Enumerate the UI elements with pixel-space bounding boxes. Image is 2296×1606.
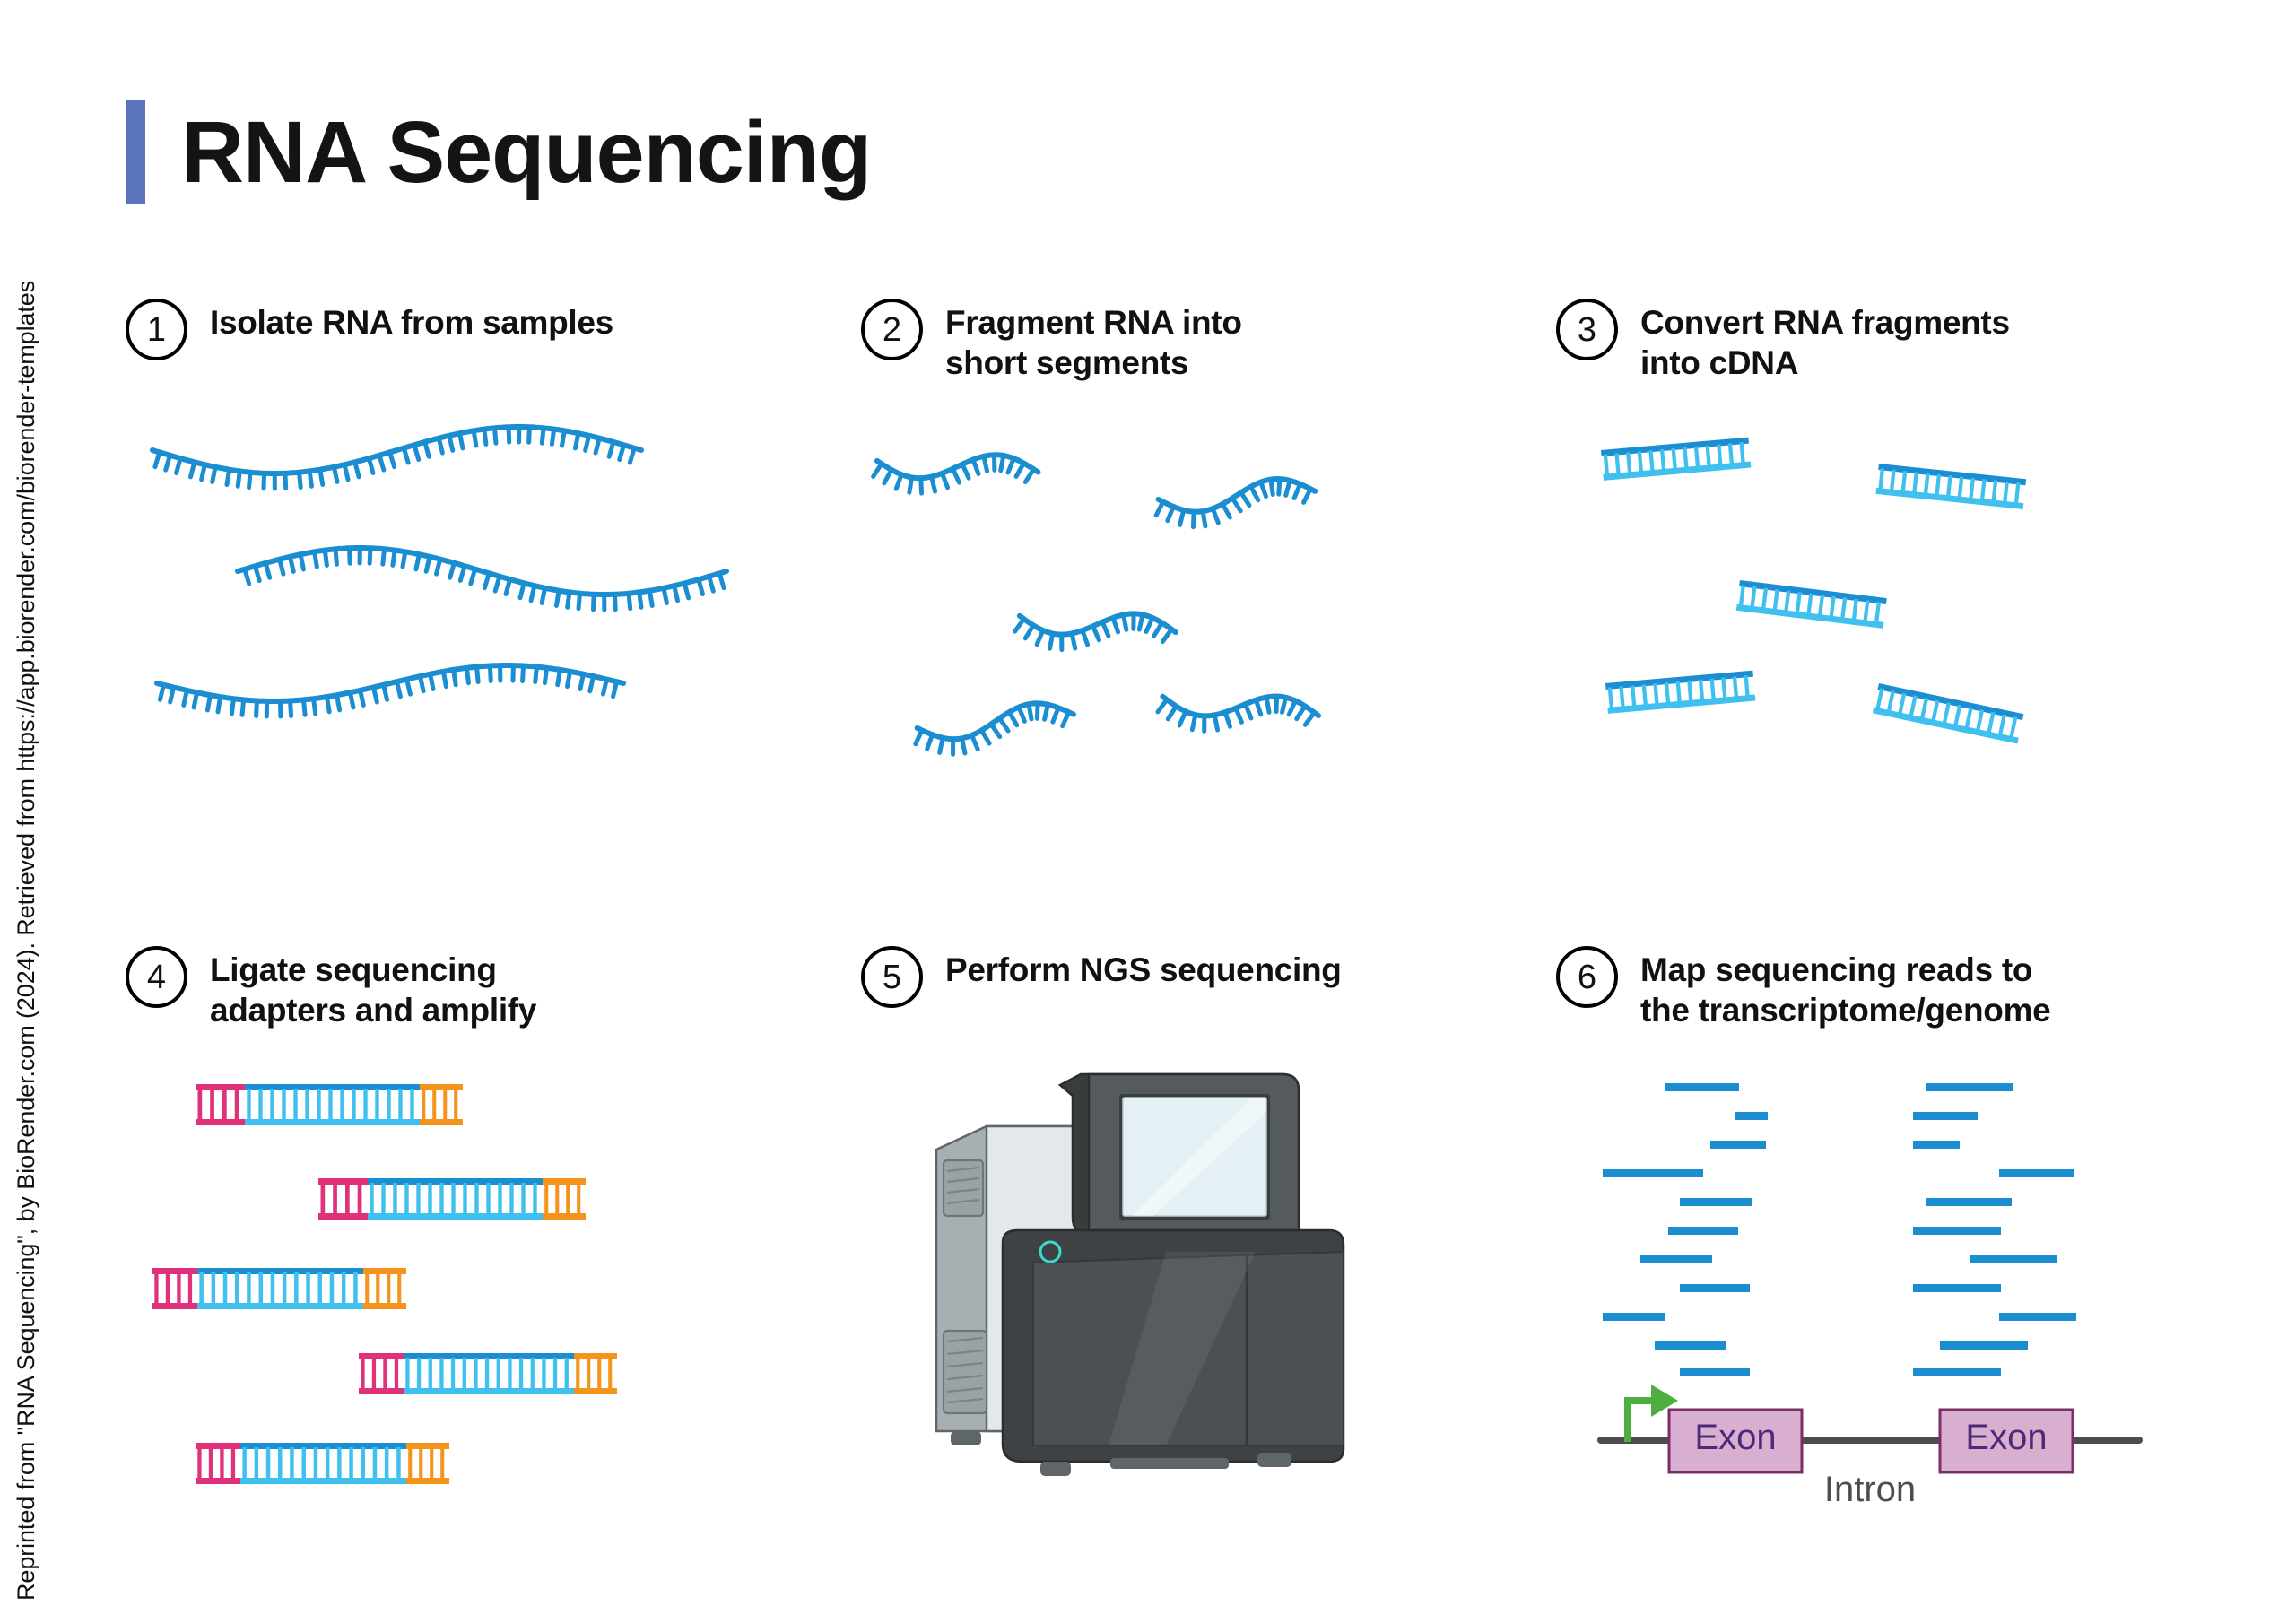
rna-base-tooth [449, 436, 453, 451]
ladder-rung [333, 1183, 337, 1215]
rna-base-tooth [1168, 706, 1176, 720]
rna-base-tooth [930, 477, 935, 492]
rna-base-tooth [443, 672, 446, 687]
rna-base-tooth [320, 470, 323, 485]
ladder-rung [345, 1183, 350, 1215]
rna-fragment [913, 700, 1076, 758]
ladder-rung [1931, 700, 1939, 722]
rna-base-tooth [1179, 711, 1186, 726]
step-number-6: 6 [1556, 946, 1618, 1008]
rna-base-tooth [529, 427, 530, 442]
rna-base-tooth [325, 551, 326, 566]
ladder-rung [498, 1183, 501, 1215]
rna-base-tooth [544, 668, 546, 683]
ladder-rung [1739, 585, 1745, 606]
rna-base-tooth [1091, 627, 1100, 641]
ladder-rung [1683, 447, 1688, 469]
ladder-rung [485, 1358, 489, 1390]
rna-base-tooth [586, 436, 589, 451]
rna-base-tooth [484, 573, 489, 587]
rna-base-tooth [1008, 458, 1013, 473]
rna-base-tooth [993, 456, 996, 471]
cdna-segment [245, 1084, 420, 1125]
rna-base-tooth [961, 464, 970, 478]
read-mapping-illustration: Exon Intron Exon [1601, 1080, 2139, 1528]
rna-base-tooth [884, 470, 891, 484]
rna-base-tooth [506, 579, 510, 594]
rna-base-tooth [983, 456, 988, 472]
ladder-rung [474, 1358, 477, 1390]
rna-base-tooth [552, 430, 553, 445]
rna-fragment [1154, 477, 1317, 529]
step-panel-3: 3 Convert RNA fragments into cDNA [1556, 299, 2103, 764]
ladder-rung [542, 1358, 545, 1390]
rna-base-tooth [1015, 619, 1024, 633]
rna-base-tooth [1203, 716, 1206, 732]
cdna-ladders-svg [1583, 423, 2103, 764]
ladder-rung [293, 1089, 297, 1121]
rna-base-tooth [561, 430, 564, 446]
rna-base-tooth [909, 478, 912, 493]
rna-base-tooth [426, 557, 430, 572]
rna-base-tooth [531, 586, 535, 601]
rna-base-tooth [350, 692, 352, 708]
rna-base-tooth [630, 448, 634, 463]
ladder-rung [396, 1447, 401, 1480]
cdna-ladders-illustration [1583, 423, 2103, 764]
rna-base-tooth [407, 680, 411, 695]
ladder-rung [566, 1183, 570, 1215]
ladder-rung [1744, 675, 1749, 697]
sequencing-read [1710, 1141, 1766, 1149]
ladder-rung [521, 1183, 525, 1215]
rna-base-tooth [1241, 492, 1249, 506]
ladder-rung [321, 1183, 326, 1215]
rna-base-tooth [1060, 635, 1064, 650]
rna-fragment [1156, 682, 1320, 745]
rna-base-tooth [177, 458, 181, 473]
ladder-rung [220, 1447, 223, 1480]
step-label-4: Ligate sequencing adapters and amplify [210, 946, 536, 1030]
ladder-rung [587, 1358, 590, 1390]
ladder-rung [199, 1272, 204, 1305]
page-title: RNA Sequencing [181, 109, 871, 195]
ladder-rung [451, 1183, 455, 1215]
sequencing-read [1665, 1083, 1739, 1091]
adapter-constructs-svg [152, 1084, 655, 1506]
ladder-rung [1699, 680, 1704, 701]
ladder-rung [408, 1447, 412, 1480]
rna-base-tooth [404, 448, 408, 463]
rna-base-tooth [1232, 498, 1240, 511]
ladder-rung [1761, 588, 1768, 610]
sequencing-read [1926, 1083, 2013, 1091]
ladder-rung [428, 1183, 431, 1215]
rna-base-tooth [1213, 508, 1218, 523]
cdna-ladder [1605, 671, 1755, 714]
sequencing-reads [1603, 1083, 2076, 1376]
ladder-rung [1852, 599, 1858, 621]
ladder-rung [544, 1183, 548, 1215]
rna-base-tooth [437, 560, 440, 574]
rna-base-tooth [962, 738, 965, 753]
rna-base-tooth [1154, 622, 1162, 637]
adapter-segment-pink [196, 1084, 245, 1125]
rna-base-tooth [558, 670, 561, 685]
rna-base-tooth [604, 680, 607, 695]
ladder-rung [306, 1272, 310, 1305]
cdna-segment [240, 1443, 406, 1484]
ladder-rung [198, 1089, 203, 1121]
ladder-rung [474, 1183, 478, 1215]
intron-label: Intron [1824, 1470, 1916, 1509]
adapter-segment-pink [318, 1178, 368, 1220]
ladder-rung [1721, 678, 1726, 699]
sequencing-read [1735, 1112, 1768, 1120]
rna-base-tooth [991, 724, 1000, 737]
rna-base-tooth [639, 592, 641, 607]
rna-base-tooth [1289, 700, 1295, 716]
rna-base-tooth [1255, 700, 1263, 715]
rna-strands-svg [152, 414, 709, 755]
ladder-rung [235, 1272, 239, 1305]
adapter-segment-orange [420, 1084, 463, 1125]
ladder-rung [597, 1358, 601, 1390]
ladder-rung [317, 1089, 320, 1121]
sequencing-read [1603, 1169, 1703, 1177]
rna-base-tooth [1019, 707, 1024, 722]
ladder-rung [1874, 602, 1881, 623]
rna-base-tooth [207, 695, 210, 710]
ladder-rung [271, 1272, 275, 1305]
rna-base-tooth [231, 699, 233, 714]
ladder-rung [1648, 450, 1654, 472]
ladder-rung [417, 1358, 421, 1390]
step-panel-5: 5 Perform NGS sequencing [861, 946, 1399, 1492]
ladder-rail-bottom [240, 1478, 406, 1484]
rna-base-tooth [1025, 625, 1033, 639]
rna-base-tooth [684, 583, 688, 597]
ladder-rung [376, 1272, 379, 1305]
rna-base-tooth [1297, 706, 1305, 720]
sequencing-read [1680, 1198, 1752, 1206]
ladder-rung [497, 1358, 500, 1390]
rna-base-tooth [1303, 489, 1311, 502]
ladder-rung [2014, 482, 2021, 504]
ladder-rung [509, 1183, 513, 1215]
cdna-segment [368, 1178, 543, 1220]
rna-base-tooth [326, 697, 329, 712]
ladder-rung [282, 1089, 285, 1121]
ladder-rung [302, 1447, 307, 1480]
ladder-rung [1901, 471, 1908, 492]
ladder-rung [553, 1358, 557, 1390]
rna-base-tooth [1275, 697, 1279, 712]
ladder-rail-top [240, 1443, 406, 1449]
ladder-rung [361, 1358, 364, 1390]
rna-base-tooth [1037, 630, 1043, 646]
rna-base-tooth [213, 467, 215, 482]
ladder-rung [1709, 679, 1715, 700]
ladder-rung [387, 1272, 390, 1305]
step-header-4: 4 Ligate sequencing adapters and amplify [126, 946, 655, 1030]
rna-base-tooth [674, 586, 678, 601]
ladder-rung [283, 1272, 287, 1305]
ladder-rung [154, 1272, 158, 1305]
rna-base-tooth [578, 594, 579, 609]
rna-base-tooth [1179, 510, 1185, 525]
rna-base-tooth [580, 674, 583, 690]
ladder-rung [416, 1183, 420, 1215]
rna-base-tooth [719, 573, 724, 587]
ladder-rung [1878, 468, 1884, 490]
ladder-rung [405, 1358, 409, 1390]
step-number-4: 4 [126, 946, 187, 1008]
ladder-rung [393, 1183, 396, 1215]
ladder-rung [258, 1089, 262, 1121]
rna-base-tooth [218, 697, 221, 712]
ladder-rung [463, 1183, 466, 1215]
rna-base-tooth [1001, 456, 1004, 471]
rna-base-tooth [249, 473, 250, 488]
rna-base-tooth [1036, 704, 1039, 719]
ngs-sequencer-illustration [897, 1044, 1399, 1492]
ladder-rung [210, 1089, 214, 1121]
step-label-6: Map sequencing reads to the transcriptom… [1640, 946, 2050, 1030]
rna-base-tooth [915, 731, 924, 744]
ladder-rung [1608, 688, 1613, 709]
ladder-rung [242, 1447, 247, 1480]
ngs-sequencer-svg [897, 1044, 1399, 1492]
step-number-1: 1 [126, 299, 187, 360]
rna-base-tooth [242, 699, 244, 715]
adapter-construct [318, 1178, 586, 1220]
rna-base-tooth [344, 464, 348, 480]
sequencing-read [1913, 1141, 1960, 1149]
ladder-rung [370, 1183, 373, 1215]
ladder-rung [222, 1089, 227, 1121]
ladder-rung [383, 1358, 387, 1390]
rna-base-tooth [938, 738, 944, 753]
rna-base-tooth [1146, 618, 1152, 633]
rna-base-tooth [403, 551, 405, 567]
step-number-2: 2 [861, 299, 923, 360]
ladder-rung [1935, 474, 1941, 496]
ladder-rung [395, 1358, 398, 1390]
adapter-construct [359, 1353, 617, 1394]
sequencing-read [1940, 1341, 2028, 1350]
rna-base-tooth [972, 735, 978, 751]
step-header-1: 1 Isolate RNA from samples [126, 299, 709, 360]
ladder-rung [1806, 594, 1813, 615]
step-header-6: 6 Map sequencing reads to the transcript… [1556, 946, 2139, 1030]
rna-base-tooth [166, 456, 170, 470]
cdna-segment [197, 1268, 363, 1309]
sequencing-read [1668, 1227, 1738, 1235]
ladder-rung [278, 1447, 283, 1480]
rna-base-tooth [314, 699, 316, 714]
rna-base-tooth [920, 478, 923, 493]
rna-base-tooth [1293, 484, 1300, 499]
rna-base-tooth [614, 595, 615, 610]
ladder-rung [1998, 715, 2006, 736]
rna-base-tooth [664, 588, 667, 603]
rna-base-tooth [874, 464, 882, 477]
rna-base-tooth [1049, 634, 1052, 649]
rna-base-tooth [1155, 502, 1163, 516]
rna-fragments-illustration [879, 423, 1381, 764]
ladder-rung [1750, 586, 1756, 608]
ladder-rung [305, 1089, 309, 1121]
ladder-rung [1626, 452, 1631, 473]
rna-base-tooth [383, 549, 385, 564]
ladder-rung [1638, 451, 1643, 473]
cdna-ladder [1873, 683, 2023, 744]
rna-base-tooth [613, 681, 617, 697]
ladder-rung [1653, 683, 1658, 705]
rna-base-tooth [414, 445, 419, 459]
ladder-rung [330, 1272, 335, 1305]
ladder-rung [361, 1447, 366, 1480]
ladder-rung [363, 1089, 367, 1121]
rna-base-tooth [556, 591, 559, 606]
rna-base-tooth [1000, 718, 1009, 732]
ladder-rail-top [197, 1268, 363, 1274]
rna-base-tooth [300, 554, 303, 569]
exon-label-2: Exon [1965, 1418, 2047, 1457]
adapter-segment-orange [406, 1443, 449, 1484]
ladder-rung [1976, 709, 1984, 731]
ladder-rung [1614, 454, 1620, 475]
ladder-rung [1829, 596, 1835, 618]
rna-base-tooth [227, 470, 230, 485]
read-mapping-svg: Exon Intron Exon [1601, 1080, 2139, 1528]
ladder-rung [555, 1183, 559, 1215]
rna-base-tooth [255, 566, 259, 580]
rna-base-tooth [393, 551, 395, 566]
rna-base-tooth [1111, 618, 1119, 632]
ladder-rung [1694, 447, 1700, 468]
ladder-rung [404, 1183, 408, 1215]
ladder-rung [608, 1358, 612, 1390]
ladder-rung [373, 1447, 378, 1480]
adapter-segment-pink [152, 1268, 197, 1309]
rna-base-tooth [542, 428, 544, 443]
rna-backbone [152, 427, 641, 473]
ladder-rung [1739, 442, 1744, 464]
ladder-rung [270, 1089, 274, 1121]
rna-base-tooth [384, 685, 387, 700]
ladder-rung [1987, 712, 1995, 734]
ladder-rung [1890, 470, 1896, 491]
step-panel-6: 6 Map sequencing reads to the transcript… [1556, 946, 2139, 1528]
rna-base-tooth [285, 473, 286, 489]
ladder-rung [531, 1358, 535, 1390]
adapter-construct [196, 1084, 463, 1125]
title-block: RNA Sequencing [126, 100, 871, 204]
rna-base-tooth [280, 560, 283, 574]
ladder-rung [439, 1183, 443, 1215]
ladder-rung [1665, 682, 1670, 704]
rna-base-tooth [1162, 629, 1171, 643]
ladder-rung [2009, 716, 2017, 738]
ladder-rung [337, 1447, 342, 1480]
ladder-rung [1875, 689, 1883, 710]
ladder-rung [1991, 481, 1997, 502]
rna-base-tooth [593, 595, 594, 610]
ladder-rung [349, 1447, 353, 1480]
sequencing-read [1999, 1313, 2076, 1321]
rna-base-tooth [238, 471, 239, 486]
ladder-rung [358, 1183, 362, 1215]
adapter-construct [152, 1268, 406, 1309]
ladder-rung [1642, 684, 1648, 706]
rna-base-tooth [1081, 630, 1089, 645]
cdna-ladder [1601, 438, 1751, 481]
rna-base-tooth [495, 428, 496, 443]
rna-base-tooth [568, 592, 570, 607]
ladder-rung [1863, 601, 1869, 622]
cdna-ladder [1875, 464, 2026, 509]
rna-base-tooth [1029, 704, 1031, 719]
rna-base-tooth [1132, 614, 1135, 629]
ladder-rung [259, 1272, 264, 1305]
rna-base-tooth [609, 442, 613, 456]
ladder-rung [1965, 708, 1973, 729]
rna-base-tooth [155, 452, 160, 466]
rna-base-tooth [1223, 712, 1231, 726]
rna-base-tooth [620, 445, 624, 459]
rna-base-tooth [454, 670, 457, 685]
adapter-segment-orange [543, 1178, 586, 1220]
rna-base-tooth [1043, 705, 1049, 720]
sequencing-read [1680, 1284, 1750, 1292]
ladder-rung [1943, 702, 1951, 724]
rna-base-tooth [184, 690, 187, 706]
adapter-segment-orange [363, 1268, 406, 1309]
ladder-rung [1818, 595, 1824, 616]
rna-base-tooth [350, 548, 351, 563]
ladder-rung [1953, 705, 1961, 726]
ladder-rung [576, 1358, 579, 1390]
ladder-rung [533, 1183, 536, 1215]
ladder-rung [1672, 448, 1677, 470]
rna-base-tooth [337, 695, 340, 710]
ladder-rail-bottom [1607, 695, 1755, 714]
ladder-rung [223, 1272, 228, 1305]
rna-base-tooth [981, 730, 989, 744]
rna-base-tooth [1305, 712, 1314, 726]
rna-base-tooth [1158, 699, 1167, 713]
rna-base-tooth [1009, 712, 1017, 726]
step-header-5: 5 Perform NGS sequencing [861, 946, 1399, 1008]
ladder-rung [166, 1272, 170, 1305]
ladder-rung [294, 1272, 299, 1305]
rna-base-tooth [1222, 504, 1230, 518]
rna-base-tooth [952, 739, 954, 754]
rna-base-tooth [1285, 481, 1291, 495]
rna-base-tooth [1070, 634, 1076, 649]
rna-fragment [873, 447, 1039, 501]
rna-base-tooth [1271, 480, 1273, 495]
rna-base-tooth [1122, 615, 1128, 630]
rna-base-tooth [523, 666, 524, 681]
step-panel-1: 1 Isolate RNA from samples [126, 299, 709, 755]
step-panel-2: 2 Fragment RNA into short segments [861, 299, 1381, 764]
step-label-5: Perform NGS sequencing [945, 946, 1342, 990]
adapter-segment-pink [359, 1353, 404, 1394]
ladder-rung [1924, 473, 1930, 495]
